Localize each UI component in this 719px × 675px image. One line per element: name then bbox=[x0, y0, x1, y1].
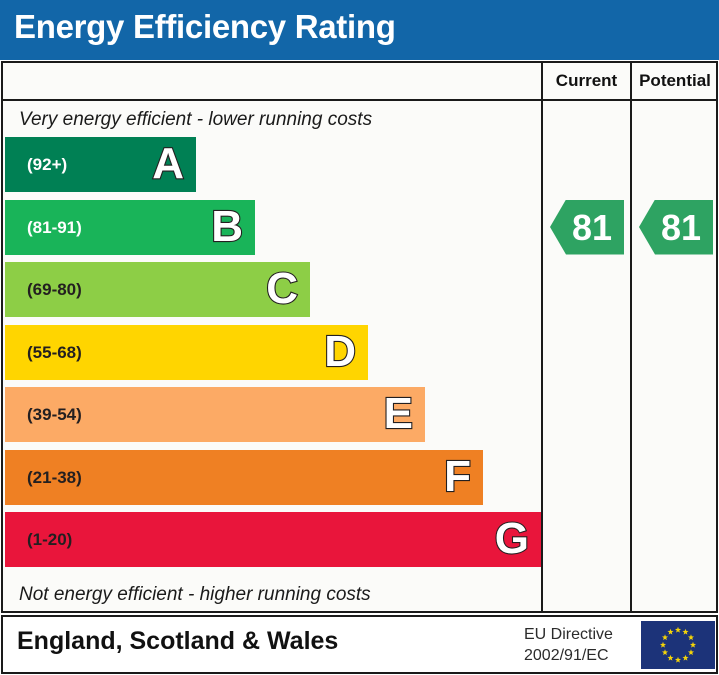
footer-directive: EU Directive 2002/91/EC bbox=[524, 624, 634, 666]
band-range-c: (69-80) bbox=[27, 262, 82, 317]
caption-not-efficient: Not energy efficient - higher running co… bbox=[3, 578, 541, 611]
band-range-f: (21-38) bbox=[27, 450, 82, 505]
footer-directive-line1: EU Directive bbox=[524, 624, 634, 645]
band-bar-g: (1-20)G bbox=[5, 512, 541, 567]
chart-header-bar: Energy Efficiency Rating bbox=[0, 0, 719, 60]
band-letter-d: D bbox=[324, 325, 356, 380]
column-divider-left bbox=[541, 101, 543, 611]
band-letter-e: E bbox=[384, 387, 413, 442]
band-bar-e: (39-54)E bbox=[5, 387, 425, 442]
band-letter-b: B bbox=[211, 200, 243, 255]
band-bars-container: (92+)A(81-91)B(69-80)C(55-68)D(39-54)E(2… bbox=[3, 137, 541, 577]
caption-very-efficient: Very energy efficient - lower running co… bbox=[3, 103, 541, 136]
column-header-current: Current bbox=[541, 63, 630, 99]
band-range-e: (39-54) bbox=[27, 387, 82, 442]
footer-bar: England, Scotland & Wales EU Directive 2… bbox=[1, 615, 718, 674]
band-bar-d: (55-68)D bbox=[5, 325, 368, 380]
band-letter-a: A bbox=[152, 137, 184, 192]
band-bar-c: (69-80)C bbox=[5, 262, 310, 317]
footer-directive-line2: 2002/91/EC bbox=[524, 645, 634, 666]
energy-efficiency-rating-certificate: Energy Efficiency Rating Current Potenti… bbox=[0, 0, 719, 675]
footer-region-label: England, Scotland & Wales bbox=[17, 627, 338, 656]
band-bar-f: (21-38)F bbox=[5, 450, 483, 505]
band-range-g: (1-20) bbox=[27, 512, 72, 567]
rating-arrow-current: 81 bbox=[550, 200, 624, 255]
band-range-a: (92+) bbox=[27, 137, 67, 192]
band-letter-c: C bbox=[266, 262, 298, 317]
eu-flag-icon bbox=[641, 621, 715, 669]
band-bar-b: (81-91)B bbox=[5, 200, 255, 255]
band-range-d: (55-68) bbox=[27, 325, 82, 380]
rating-table: Current Potential Very energy efficient … bbox=[1, 61, 718, 613]
band-range-b: (81-91) bbox=[27, 200, 82, 255]
page-title: Energy Efficiency Rating bbox=[14, 8, 396, 46]
rating-arrow-potential: 81 bbox=[639, 200, 713, 255]
band-letter-g: G bbox=[495, 512, 529, 567]
column-header-row: Current Potential bbox=[3, 63, 716, 101]
column-header-potential: Potential bbox=[630, 63, 718, 99]
band-letter-f: F bbox=[444, 450, 471, 505]
column-divider-right bbox=[630, 101, 632, 611]
band-bar-a: (92+)A bbox=[5, 137, 196, 192]
